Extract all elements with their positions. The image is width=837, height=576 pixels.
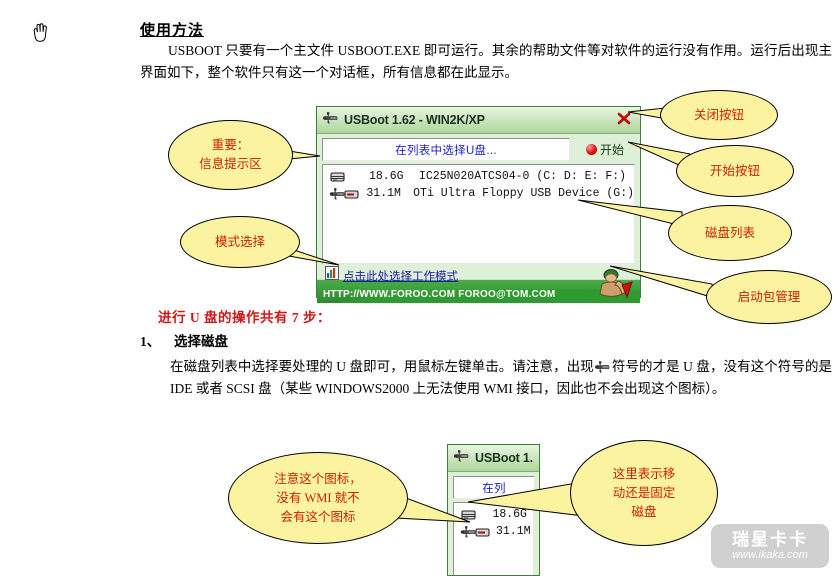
callout-icon-note: 注意这个图标， 没有 WMI 就不 会有这个图标 — [228, 452, 408, 544]
callout-important: 重要： 信息提示区 — [168, 120, 293, 190]
usb-plug-icon — [595, 359, 611, 373]
disk-row[interactable]: 18.6G — [454, 506, 533, 523]
callout-line: 关闭按钮 — [694, 106, 744, 125]
disk-row[interactable]: 18.6G IC25N020ATCS04-0 (C: D: E: F:) — [323, 168, 634, 185]
dialog-titlebar[interactable]: USBoot 1. — [448, 445, 539, 472]
callout-removable-note: 这里表示移 动还是固定 磁盘 — [570, 440, 718, 546]
disk-row[interactable]: 31.1M OTi Ultra Floppy USB Device (G:) — [323, 185, 634, 202]
callout-line: 注意这个图标， — [274, 470, 362, 489]
mode-select-link-text[interactable]: 点击此处选择工作模式 — [343, 268, 458, 284]
usboot-dialog: USBoot 1.62 - WIN2K/XP 在列表中选择U盘... 开始 — [316, 106, 641, 298]
page-root: 使用方法 USBOOT 只要有一个主文件 USBOOT.EXE 即可运行。其余的… — [0, 0, 837, 576]
callout-line: 动还是固定 — [613, 484, 676, 503]
footer-url: HTTP://WWW.FOROO.COM FOROO@TOM.COM — [323, 289, 555, 300]
callout-line: 磁盘 — [631, 503, 656, 522]
callout-line: 磁盘列表 — [705, 224, 755, 243]
step-paragraph-a: 在磁盘列表中选择要处理的 U 盘即可，用鼠标左键单击。请注意，出现 — [170, 359, 594, 374]
disk-name: OTi Ultra Floppy USB Device (G:) — [413, 187, 634, 200]
dialog-toolbar: 在列表中选择U盘... 开始 — [317, 134, 640, 163]
watermark: 瑞星卡卡 www.ikaka.com — [711, 524, 829, 568]
callout-boot-package: 启动包管理 — [706, 270, 832, 324]
status-text: 在列 — [482, 480, 506, 496]
red-heading: 进行 U 盘的操作共有 7 步： — [158, 306, 331, 326]
start-button-label: 开始 — [600, 141, 624, 158]
mascot-icon[interactable] — [594, 267, 634, 303]
callout-line: 启动包管理 — [738, 288, 801, 307]
callout-line: 没有 WMI 就不 — [276, 489, 359, 508]
callout-line: 模式选择 — [215, 233, 265, 252]
disk-size: 18.6G — [369, 170, 419, 183]
led-icon — [586, 144, 597, 155]
callout-start-button: 开始按钮 — [676, 145, 794, 197]
usboot-dialog-cropped: USBoot 1. 在列 18.6G — [447, 444, 540, 576]
status-field: 在列 — [453, 476, 535, 499]
watermark-url: www.ikaka.com — [732, 549, 808, 562]
disk-icons — [460, 525, 496, 539]
close-icon[interactable] — [616, 111, 632, 127]
callout-line: 重要： — [212, 136, 250, 155]
watermark-brand: 瑞星卡卡 — [732, 530, 808, 549]
disk-icons — [329, 170, 369, 184]
dialog-title-text: USBoot 1. — [475, 451, 533, 465]
usb-plug-icon — [323, 111, 339, 130]
disk-icons — [329, 187, 366, 201]
disk-icons — [460, 508, 492, 522]
callout-line: 会有这个图标 — [280, 508, 355, 527]
disk-name: IC25N020ATCS04-0 (C: D: E: F:) — [419, 170, 626, 183]
disk-size: 18.6G — [492, 508, 533, 521]
callout-line: 这里表示移 — [613, 465, 676, 484]
disk-row[interactable]: 31.1M — [454, 523, 533, 540]
intro-paragraph: USBOOT 只要有一个主文件 USBOOT.EXE 即可运行。其余的帮助文件等… — [140, 40, 832, 84]
disk-size: 31.1M — [366, 187, 413, 200]
callout-disk-list: 磁盘列表 — [668, 205, 792, 261]
dialog-toolbar: 在列 — [448, 472, 539, 501]
mode-select-link[interactable]: 点击此处选择工作模式 — [325, 266, 458, 285]
status-text: 在列表中选择U盘... — [395, 142, 497, 158]
disk-size: 31.1M — [496, 525, 533, 538]
callout-close-button: 关闭按钮 — [660, 90, 778, 140]
mode-icon — [325, 266, 339, 285]
dialog-footer: 点击此处选择工作模式 HTTP://WWW.FOROO.COM FOROO@TO… — [317, 264, 640, 303]
callout-line: 开始按钮 — [710, 162, 760, 181]
disk-list[interactable]: 18.6G IC25N020ATCS04-0 (C: D: E: F:) — [322, 164, 635, 264]
status-field: 在列表中选择U盘... — [322, 138, 570, 161]
hand-cursor-icon — [28, 20, 54, 46]
step-paragraph: 在磁盘列表中选择要处理的 U 盘即可，用鼠标左键单击。请注意，出现符号的才是 U… — [170, 356, 832, 400]
dialog-title-text: USBoot 1.62 - WIN2K/XP — [344, 113, 485, 127]
page-title: 使用方法 — [140, 19, 204, 40]
start-button[interactable]: 开始 — [574, 139, 636, 161]
usb-plug-icon — [454, 449, 470, 468]
step-title: 选择磁盘 — [174, 334, 228, 349]
disk-list[interactable]: 18.6G — [453, 502, 534, 576]
step-heading: 1、选择磁盘 — [140, 330, 228, 350]
step-number: 1、 — [140, 330, 174, 350]
callout-mode-select: 模式选择 — [180, 216, 300, 268]
dialog-titlebar[interactable]: USBoot 1.62 - WIN2K/XP — [317, 107, 640, 134]
callout-line: 信息提示区 — [199, 155, 262, 174]
